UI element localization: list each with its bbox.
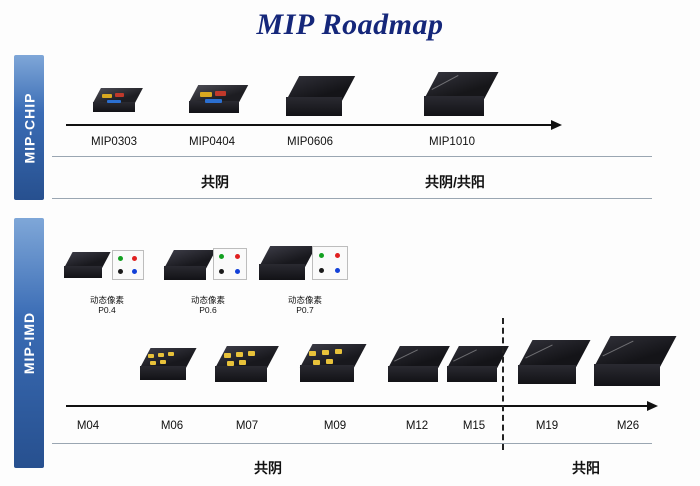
chip-label-mip0303: MIP0303 bbox=[82, 136, 146, 148]
package-pad bbox=[215, 91, 226, 96]
pixel-panel-p06 bbox=[213, 248, 247, 280]
chip-axis-arrowhead bbox=[551, 120, 562, 130]
sidebar-bar-mip-chip-label: MIP-CHIP bbox=[21, 92, 37, 163]
package-top-face bbox=[447, 346, 509, 368]
imd-label-m06: M06 bbox=[147, 420, 197, 432]
pixel-label-p04-line2: P0.4 bbox=[72, 305, 142, 315]
imd-label-m15: M15 bbox=[449, 420, 499, 432]
imd-label-m07: M07 bbox=[222, 420, 272, 432]
package-front-face bbox=[594, 364, 660, 386]
package-top-face bbox=[594, 336, 676, 367]
package-pad bbox=[150, 361, 156, 365]
pixel-dot-green bbox=[319, 253, 324, 258]
package-imd-pixel-04 bbox=[64, 252, 102, 278]
pixel-dot-green bbox=[118, 256, 123, 261]
package-front-face bbox=[93, 102, 135, 112]
package-front-face bbox=[189, 101, 239, 113]
package-pad bbox=[248, 351, 255, 356]
package-pad bbox=[224, 353, 231, 358]
pixel-dot-blue bbox=[335, 268, 340, 273]
pixel-panel-p04 bbox=[112, 250, 144, 280]
package-mip0606 bbox=[286, 76, 342, 116]
imd-label-m26: M26 bbox=[603, 420, 653, 432]
sidebar-bar-mip-imd: MIP-IMD bbox=[14, 218, 44, 468]
package-pad bbox=[309, 351, 316, 356]
chip-label-mip0404: MIP0404 bbox=[180, 136, 244, 148]
package-pad bbox=[335, 349, 342, 354]
package-m12 bbox=[447, 346, 497, 382]
pixel-dot-blue bbox=[235, 269, 240, 274]
package-pad bbox=[239, 360, 246, 365]
package-m19 bbox=[518, 340, 576, 384]
chip-group-label-common-cathode-anode: 共阴/共阳 bbox=[380, 172, 530, 192]
pixel-label-p06-line2: P0.6 bbox=[173, 305, 243, 315]
package-front-face bbox=[300, 365, 354, 382]
pixel-dot-blue bbox=[132, 269, 137, 274]
package-front-face bbox=[286, 97, 342, 116]
pixel-label-p04-line1: 动态像素 bbox=[72, 295, 142, 305]
imd-label-m09: M09 bbox=[310, 420, 360, 432]
package-mip0303 bbox=[93, 88, 135, 112]
package-m04 bbox=[140, 348, 186, 380]
package-pad bbox=[236, 352, 243, 357]
chip-group-label-common-cathode: 共阴 bbox=[165, 172, 265, 192]
package-front-face bbox=[447, 366, 497, 382]
package-pad bbox=[107, 100, 121, 103]
package-m07 bbox=[300, 344, 354, 382]
package-top-face bbox=[388, 346, 450, 368]
pixel-dot-red bbox=[235, 254, 240, 259]
package-front-face bbox=[518, 365, 576, 384]
imd-group-label-common-anode: 共阳 bbox=[536, 458, 636, 478]
imd-group-divider bbox=[502, 318, 504, 450]
imd-label-m12: M12 bbox=[392, 420, 442, 432]
package-imd-pixel-06 bbox=[164, 250, 206, 280]
pixel-label-p04: 动态像素 P0.4 bbox=[72, 295, 142, 315]
chip-axis-line bbox=[66, 124, 552, 126]
pixel-label-p06: 动态像素 P0.6 bbox=[173, 295, 243, 315]
pixel-panel-p07 bbox=[312, 246, 348, 280]
package-pad bbox=[200, 92, 212, 97]
chip-group-separator-top bbox=[52, 156, 652, 157]
package-mip0404 bbox=[189, 85, 239, 113]
package-pad bbox=[158, 353, 164, 357]
package-pad bbox=[148, 354, 154, 358]
imd-label-m04: M04 bbox=[63, 420, 113, 432]
package-pad bbox=[326, 359, 333, 364]
chip-label-mip1010: MIP1010 bbox=[420, 136, 484, 148]
package-front-face bbox=[140, 366, 186, 380]
pixel-label-p06-line1: 动态像素 bbox=[173, 295, 243, 305]
package-m09 bbox=[388, 346, 438, 382]
chip-group-separator-bottom bbox=[52, 198, 652, 199]
package-pad bbox=[227, 361, 234, 366]
imd-axis-line bbox=[66, 405, 648, 407]
package-imd-pixel-07 bbox=[259, 246, 305, 280]
package-pad bbox=[115, 93, 124, 97]
pixel-label-p07: 动态像素 P0.7 bbox=[270, 295, 340, 315]
pixel-dot-red bbox=[132, 256, 137, 261]
package-m26 bbox=[594, 336, 660, 386]
chip-label-mip0606: MIP0606 bbox=[278, 136, 342, 148]
package-front-face bbox=[164, 266, 206, 280]
roadmap-diagram: MIP Roadmap MIP-CHIP MIP-IMD MIP0303 MIP… bbox=[0, 0, 700, 486]
package-pad bbox=[205, 99, 222, 103]
package-front-face bbox=[388, 366, 438, 382]
pixel-label-p07-line2: P0.7 bbox=[270, 305, 340, 315]
package-top-face bbox=[518, 340, 590, 367]
package-pad bbox=[322, 350, 329, 355]
pixel-dot-dark bbox=[319, 268, 324, 273]
package-front-face bbox=[215, 366, 267, 382]
imd-group-label-common-cathode: 共阴 bbox=[218, 458, 318, 478]
pixel-dot-red bbox=[335, 253, 340, 258]
sidebar-bar-mip-imd-label: MIP-IMD bbox=[21, 312, 37, 374]
imd-group-separator-top bbox=[52, 443, 652, 444]
package-front-face bbox=[64, 266, 102, 278]
package-pad bbox=[168, 352, 174, 356]
imd-axis-arrowhead bbox=[647, 401, 658, 411]
pixel-dot-dark bbox=[219, 269, 224, 274]
sidebar-bar-mip-chip: MIP-CHIP bbox=[14, 55, 44, 200]
package-mip1010 bbox=[424, 72, 484, 116]
page-title: MIP Roadmap bbox=[0, 8, 700, 42]
pixel-dot-green bbox=[219, 254, 224, 259]
package-front-face bbox=[424, 96, 484, 116]
package-pad bbox=[313, 360, 320, 365]
imd-label-m19: M19 bbox=[522, 420, 572, 432]
package-front-face bbox=[259, 264, 305, 280]
pixel-label-p07-line1: 动态像素 bbox=[270, 295, 340, 305]
package-pad bbox=[102, 94, 112, 98]
package-m06 bbox=[215, 346, 267, 382]
pixel-dot-dark bbox=[118, 269, 123, 274]
package-pad bbox=[160, 360, 166, 364]
